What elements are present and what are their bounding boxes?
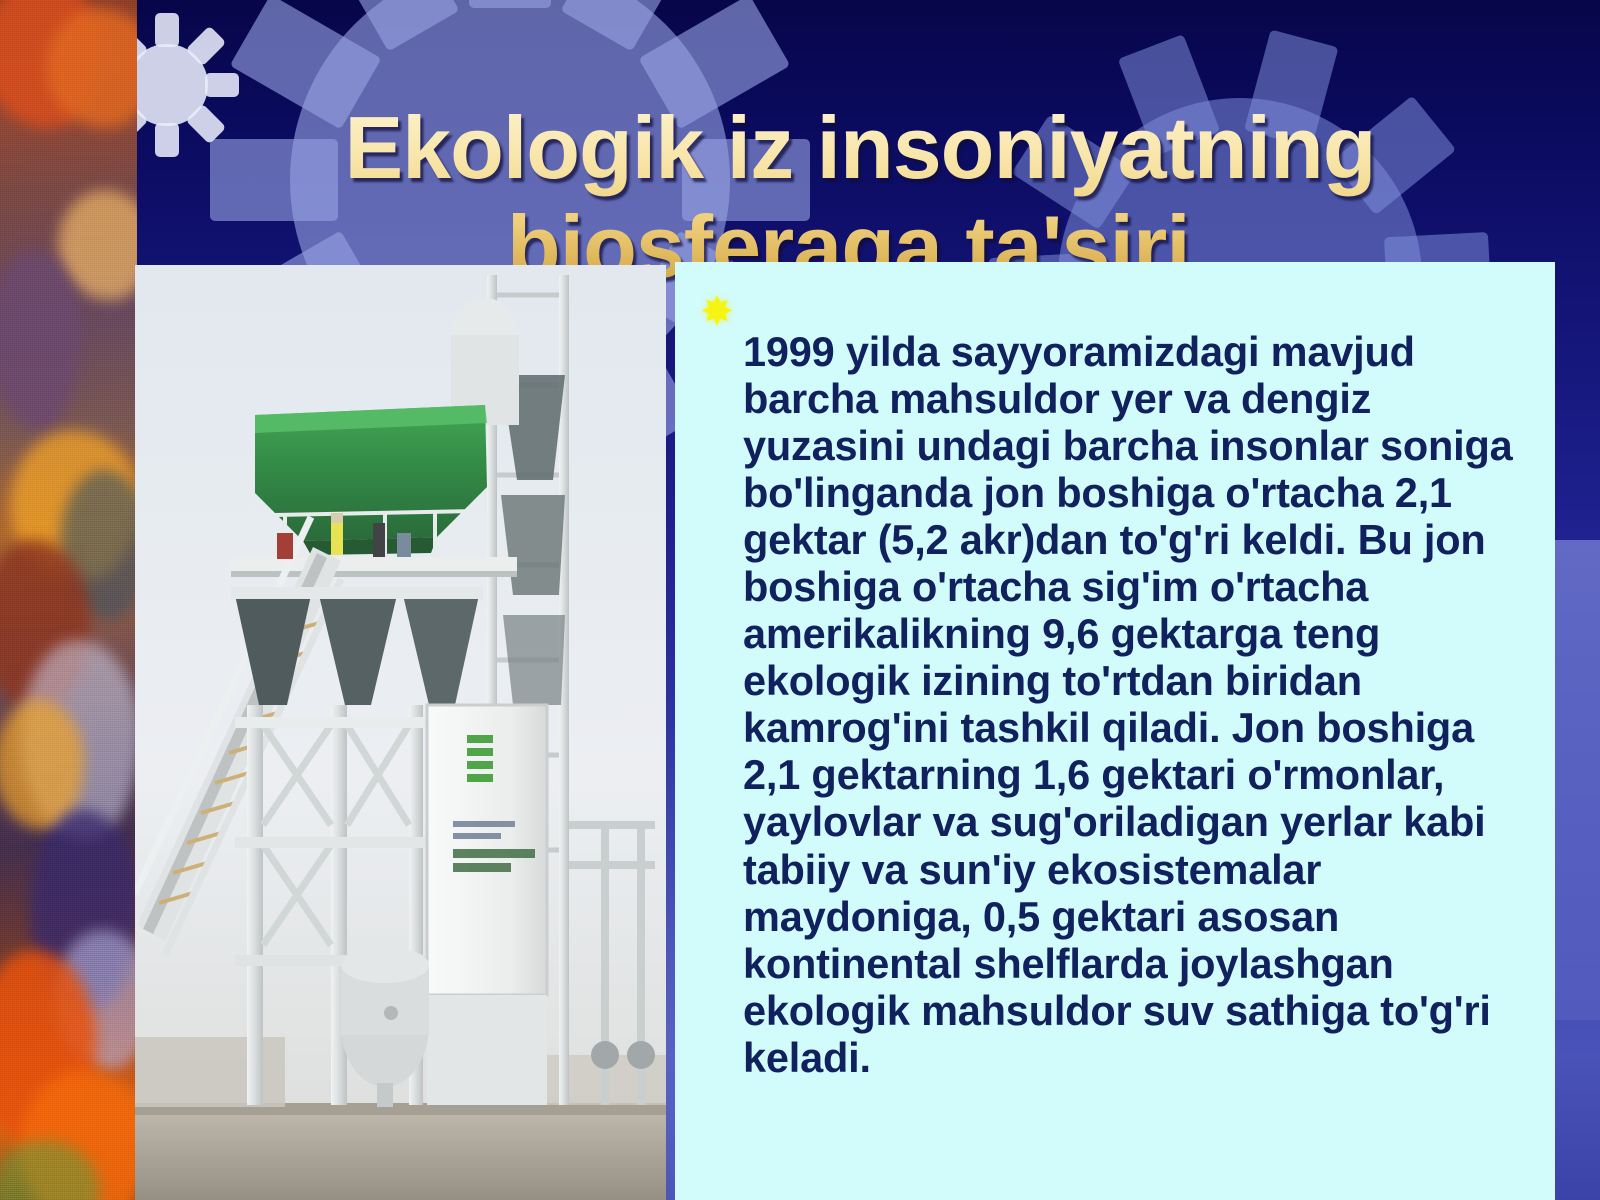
presentation-slide: Ekologik iz insoniyatning biosferaga ta'… (0, 0, 1600, 1200)
decorative-left-border (0, 0, 137, 1200)
star-bullet-icon: ✸ (697, 302, 737, 322)
body-text-panel: ✸ 1999 yilda sayyoramizdagi mavjud barch… (675, 262, 1555, 1200)
slide-photo-industrial-plant (135, 265, 666, 1200)
bullet-list-item: ✸ 1999 yilda sayyoramizdagi mavjud barch… (675, 262, 1555, 1123)
body-paragraph: 1999 yilda sayyoramizdagi mavjud barcha … (743, 328, 1529, 1082)
